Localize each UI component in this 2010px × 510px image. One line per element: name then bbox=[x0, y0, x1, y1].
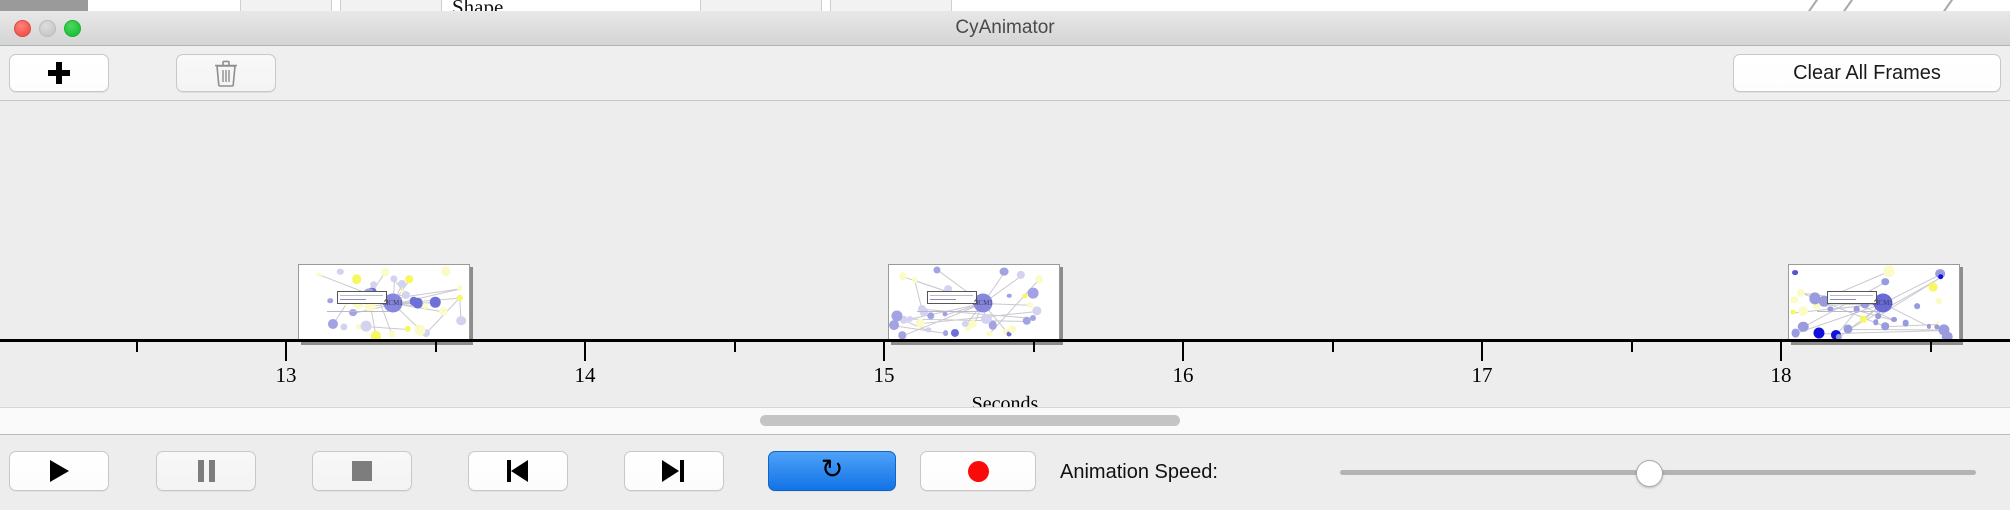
axis-tick-minor bbox=[1930, 342, 1932, 352]
network-node bbox=[1882, 323, 1890, 331]
network-node bbox=[1882, 278, 1890, 286]
frame-network-view: MCM1 bbox=[299, 265, 469, 341]
axis-tick-major bbox=[1481, 342, 1483, 361]
network-node bbox=[1791, 310, 1796, 315]
network-edge bbox=[366, 326, 408, 330]
animation-speed-label: Animation Speed: bbox=[1060, 461, 1218, 484]
network-node bbox=[1927, 324, 1931, 328]
network-node bbox=[989, 321, 997, 329]
network-node bbox=[415, 324, 426, 335]
title-bar: CyAnimator bbox=[0, 11, 2010, 46]
network-node bbox=[404, 326, 410, 332]
axis-tick-major bbox=[1780, 342, 1782, 361]
pause-button[interactable] bbox=[156, 451, 256, 491]
clear-all-frames-label: Clear All Frames bbox=[1793, 62, 1941, 85]
network-annotation-text bbox=[1817, 311, 1879, 312]
network-node bbox=[1008, 325, 1015, 332]
frame-network-view: MCM1 bbox=[889, 265, 1059, 341]
network-node bbox=[1791, 296, 1798, 303]
axis-title: Seconds bbox=[0, 393, 2010, 407]
network-callout-text bbox=[340, 295, 383, 296]
cyanimator-window-root: Shape CyAnimator bbox=[0, 0, 2010, 510]
skip-back-icon bbox=[506, 460, 530, 482]
network-node bbox=[969, 320, 977, 328]
network-callout-text bbox=[930, 295, 973, 296]
animation-speed-slider-thumb[interactable] bbox=[1636, 460, 1663, 487]
network-node bbox=[405, 276, 413, 284]
network-node bbox=[1006, 332, 1011, 337]
trash-icon bbox=[214, 60, 238, 87]
axis-tick-major bbox=[1182, 342, 1184, 361]
network-callout-text bbox=[930, 299, 956, 300]
network-callout-box bbox=[1827, 291, 1877, 304]
timeline-axis: 2131415161718 Seconds bbox=[0, 339, 2010, 407]
network-node bbox=[1000, 267, 1009, 276]
network-node bbox=[1017, 271, 1025, 279]
network-node bbox=[926, 328, 931, 333]
scrollbar-thumb[interactable] bbox=[760, 415, 1180, 426]
network-node bbox=[1027, 288, 1038, 299]
network-node bbox=[422, 303, 428, 309]
delete-frame-button[interactable] bbox=[176, 54, 276, 92]
network-node bbox=[457, 286, 462, 291]
playback-controls-bar: ↻ Animation Speed: bbox=[0, 435, 2010, 507]
network-node bbox=[457, 294, 463, 300]
timeline-scrollbar[interactable] bbox=[0, 407, 2010, 435]
axis-tick-label: 16 bbox=[1173, 363, 1194, 388]
network-callout-text bbox=[340, 299, 366, 300]
loop-icon: ↻ bbox=[821, 456, 844, 483]
network-node bbox=[1030, 315, 1036, 321]
network-node bbox=[1884, 266, 1895, 277]
network-node bbox=[328, 298, 333, 303]
network-node bbox=[899, 272, 906, 279]
network-node bbox=[899, 332, 906, 339]
axis-tick-label: 18 bbox=[1771, 363, 1792, 388]
network-node bbox=[370, 281, 378, 289]
network-node bbox=[934, 266, 941, 273]
network-callout-box bbox=[337, 291, 387, 304]
stop-button[interactable] bbox=[312, 451, 412, 491]
next-frame-button[interactable] bbox=[624, 451, 724, 491]
axis-tick-major bbox=[285, 342, 287, 361]
network-node bbox=[1027, 302, 1033, 308]
axis-tick-minor bbox=[435, 342, 437, 352]
network-annotation-text bbox=[327, 311, 389, 312]
axis-tick-label: 14 bbox=[575, 363, 596, 388]
network-node bbox=[352, 275, 362, 285]
timeline-frame-thumbnail[interactable]: MCM1 bbox=[298, 264, 470, 342]
cyanimator-window: CyAnimator Clear All Frames MCM1MCM1MCM1 bbox=[0, 11, 2010, 510]
network-node bbox=[1843, 325, 1852, 334]
network-node bbox=[1891, 317, 1897, 323]
network-callout-text bbox=[1830, 299, 1856, 300]
network-annotation-text bbox=[917, 311, 979, 312]
timeline-frame-thumbnail[interactable]: MCM1 bbox=[888, 264, 1060, 342]
network-node bbox=[1798, 306, 1808, 316]
network-node bbox=[943, 312, 948, 317]
plus-icon bbox=[47, 61, 71, 85]
clear-all-frames-button[interactable]: Clear All Frames bbox=[1733, 54, 2001, 92]
axis-tick-label: 13 bbox=[276, 363, 297, 388]
timeline-panel[interactable]: MCM1MCM1MCM1 2131415161718 Seconds bbox=[0, 101, 2010, 407]
axis-tick-minor bbox=[136, 342, 138, 352]
network-node bbox=[440, 308, 447, 315]
axis-tick-label: 15 bbox=[874, 363, 895, 388]
play-button[interactable] bbox=[9, 451, 109, 491]
toolbar: Clear All Frames bbox=[0, 46, 2010, 101]
network-node bbox=[951, 329, 959, 337]
network-node bbox=[402, 291, 410, 299]
axis-tick-label: 17 bbox=[1472, 363, 1493, 388]
record-icon bbox=[968, 461, 989, 482]
network-node bbox=[327, 319, 337, 329]
network-node bbox=[1792, 270, 1798, 276]
network-node bbox=[1938, 274, 1944, 280]
pause-icon bbox=[198, 460, 215, 482]
network-node bbox=[1813, 328, 1824, 339]
axis-tick-major bbox=[584, 342, 586, 361]
stop-icon bbox=[352, 461, 372, 481]
network-node bbox=[1875, 313, 1881, 319]
network-node bbox=[340, 323, 347, 330]
network-node bbox=[441, 267, 451, 277]
loop-button[interactable]: ↻ bbox=[768, 451, 896, 491]
network-node bbox=[1797, 288, 1805, 296]
window-title: CyAnimator bbox=[0, 11, 2010, 45]
network-node bbox=[1929, 283, 1938, 292]
skip-forward-icon bbox=[662, 460, 686, 482]
frame-network-view: MCM1 bbox=[1789, 265, 1959, 341]
network-node bbox=[1915, 304, 1921, 310]
previous-frame-button[interactable] bbox=[468, 451, 568, 491]
network-node bbox=[1935, 297, 1942, 304]
record-button[interactable] bbox=[920, 451, 1036, 491]
network-node bbox=[388, 330, 395, 337]
network-node bbox=[1035, 275, 1043, 283]
network-node bbox=[1007, 293, 1012, 298]
network-node bbox=[317, 272, 322, 277]
network-node bbox=[943, 330, 949, 336]
network-node bbox=[349, 309, 357, 317]
axis-line bbox=[0, 339, 2010, 342]
add-frame-button[interactable] bbox=[9, 54, 109, 92]
network-node bbox=[412, 298, 423, 309]
network-node bbox=[1791, 328, 1800, 337]
axis-tick-minor bbox=[1332, 342, 1334, 352]
network-node bbox=[361, 321, 372, 332]
network-callout-text bbox=[1830, 295, 1873, 296]
network-node bbox=[456, 316, 466, 326]
axis-tick-minor bbox=[1631, 342, 1633, 352]
network-node bbox=[1032, 306, 1041, 315]
network-node bbox=[382, 268, 390, 276]
play-icon bbox=[50, 460, 69, 482]
network-node bbox=[1860, 316, 1866, 322]
network-callout-box bbox=[927, 291, 977, 304]
axis-tick-minor bbox=[734, 342, 736, 352]
network-node bbox=[337, 269, 343, 275]
network-node bbox=[1902, 320, 1909, 327]
network-node bbox=[912, 278, 918, 284]
axis-tick-minor bbox=[1033, 342, 1035, 352]
network-node bbox=[986, 331, 992, 337]
axis-tick-major bbox=[883, 342, 885, 361]
timeline-frame-thumbnail[interactable]: MCM1 bbox=[1788, 264, 1960, 342]
network-node bbox=[430, 297, 440, 307]
